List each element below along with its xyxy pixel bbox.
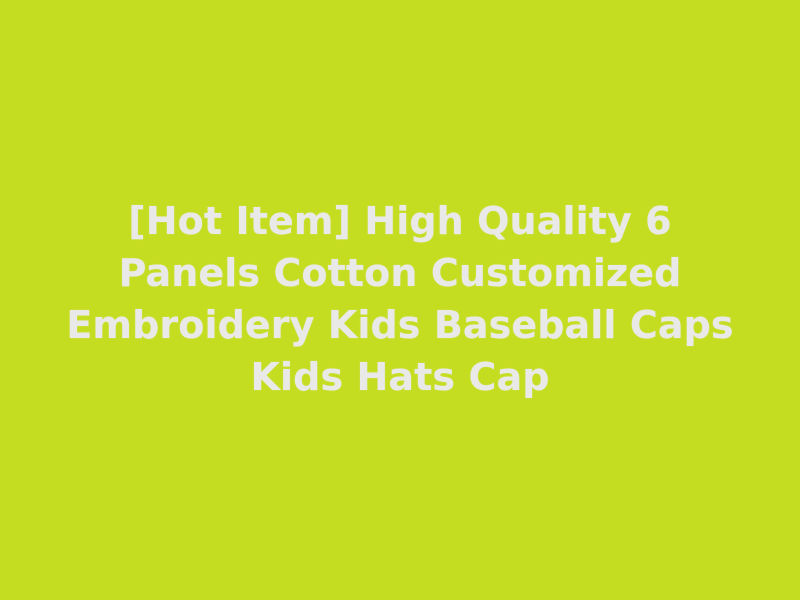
product-title: [Hot Item] High Quality 6 Panels Cotton … — [60, 195, 740, 403]
product-image-placeholder: [Hot Item] High Quality 6 Panels Cotton … — [0, 0, 800, 600]
title-block: [Hot Item] High Quality 6 Panels Cotton … — [50, 195, 750, 403]
